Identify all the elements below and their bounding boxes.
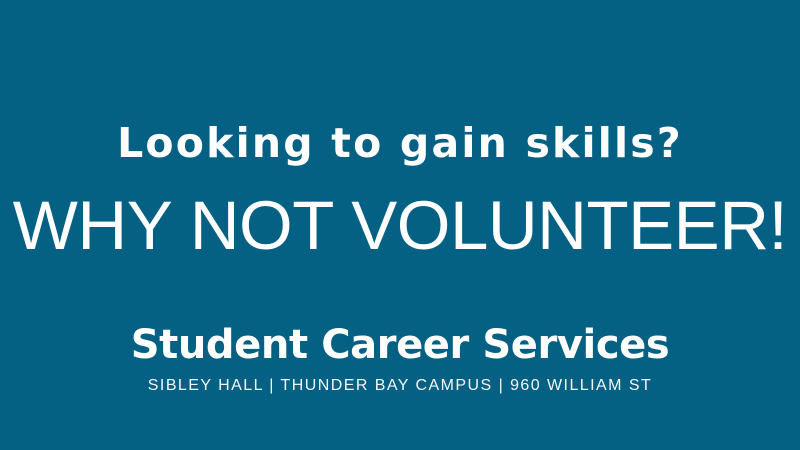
promotional-banner: Looking to gain skills? WHY NOT VOLUNTEE… [0, 0, 800, 450]
eyebrow-text: Looking to gain skills? [0, 118, 800, 168]
address-line: SIBLEY HALL | THUNDER BAY CAMPUS | 960 W… [0, 376, 800, 396]
organization-name: Student Career Services [0, 320, 800, 370]
main-headline: WHY NOT VOLUNTEER! [0, 188, 800, 264]
